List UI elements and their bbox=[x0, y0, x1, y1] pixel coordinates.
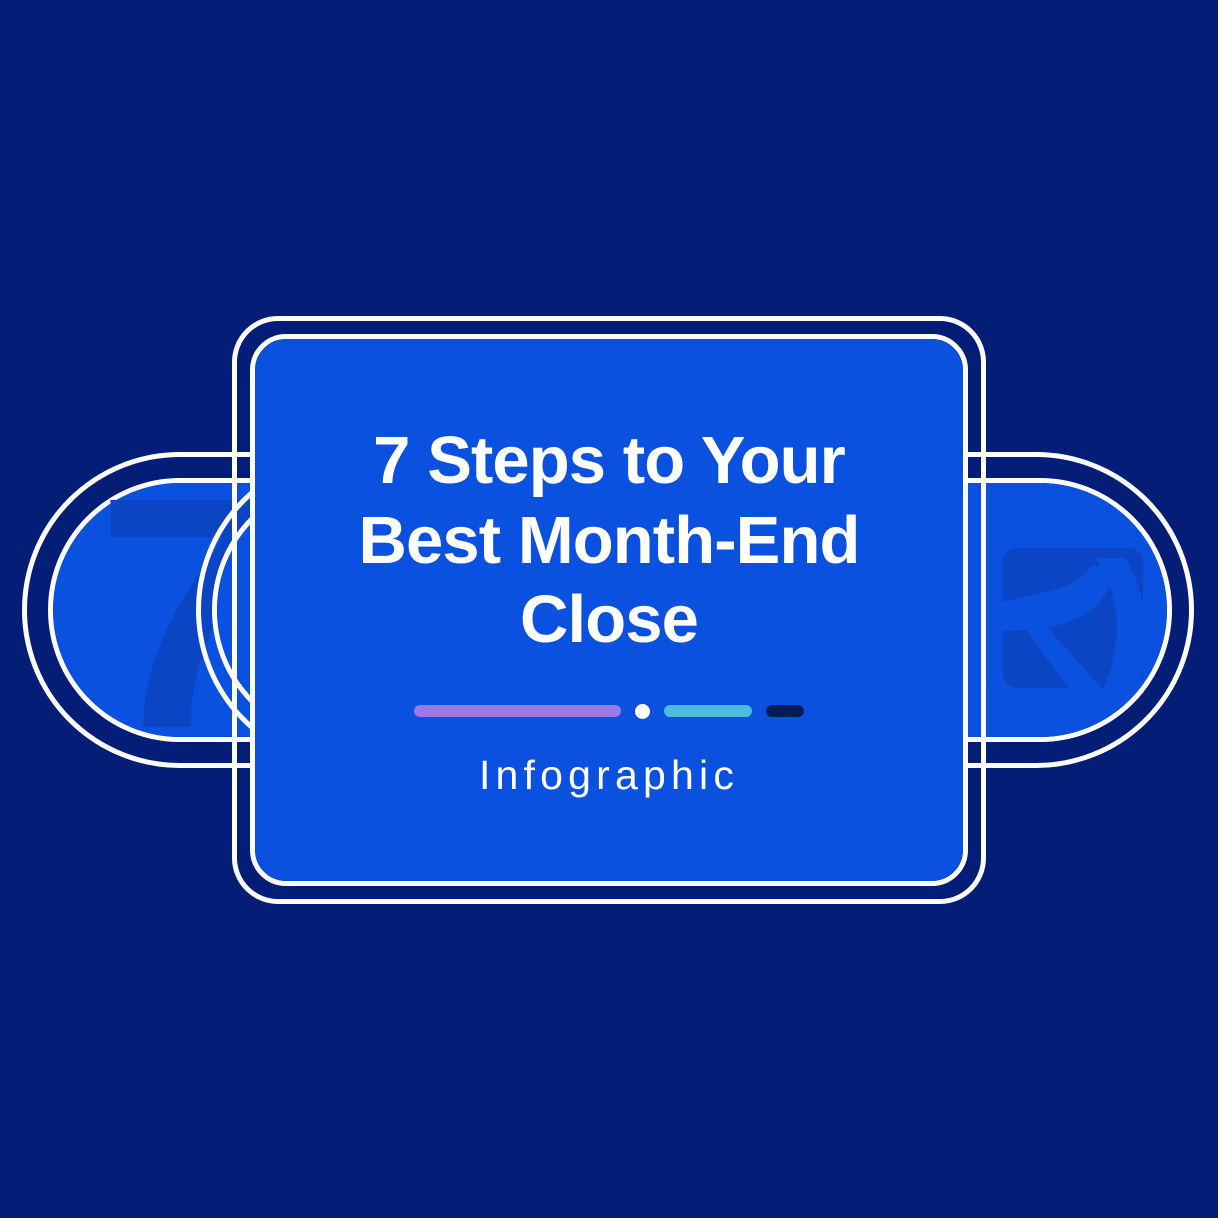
title-card: 7 Steps to Your Best Month-End Close Inf… bbox=[255, 339, 963, 881]
decorative-divider bbox=[414, 704, 804, 718]
content-type-label: Infographic bbox=[479, 752, 739, 799]
divider-cyan-bar bbox=[664, 705, 752, 717]
divider-navy-bar bbox=[766, 705, 804, 717]
infographic-cover: 7 7 Steps to Your Best Month-End Close bbox=[0, 0, 1218, 1218]
divider-gap bbox=[650, 711, 664, 712]
divider-gap bbox=[752, 711, 766, 712]
divider-white-dot bbox=[635, 704, 650, 719]
divider-gap bbox=[621, 711, 635, 712]
divider-purple-bar bbox=[414, 705, 621, 717]
brand-logo-mark-icon bbox=[1003, 548, 1143, 688]
page-title: 7 Steps to Your Best Month-End Close bbox=[299, 421, 919, 660]
